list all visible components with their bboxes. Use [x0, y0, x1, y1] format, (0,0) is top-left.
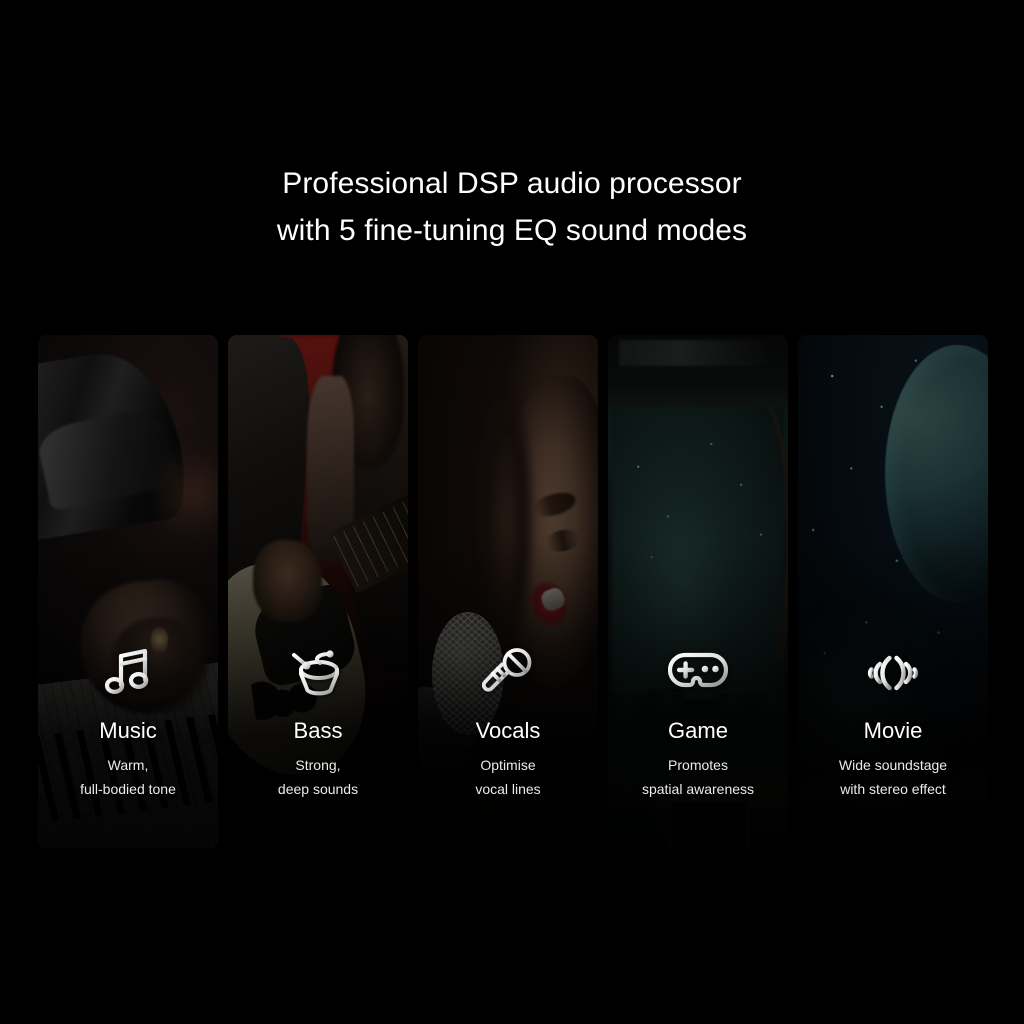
mode-description: Optimise vocal lines — [471, 753, 544, 801]
sound-mode-card-vocals[interactable]: Vocals Optimise vocal lines — [418, 335, 598, 848]
mode-title: Bass — [294, 718, 343, 744]
mode-description: Wide soundstage with stereo effect — [835, 753, 951, 801]
mode-title: Vocals — [476, 718, 541, 744]
card-content: Game Promotes spatial awareness — [608, 618, 788, 848]
mode-description: Strong, deep sounds — [274, 753, 362, 801]
card-content: Music Warm, full-bodied tone — [38, 618, 218, 848]
card-content: Vocals Optimise vocal lines — [418, 618, 598, 848]
mode-description: Warm, full-bodied tone — [76, 753, 180, 801]
gamepad-icon — [662, 640, 734, 706]
card-content: Movie Wide soundstage with stereo effect — [798, 618, 988, 848]
sound-mode-card-game[interactable]: Game Promotes spatial awareness — [608, 335, 788, 848]
music-note-icon — [92, 640, 164, 706]
drum-icon — [282, 640, 354, 706]
card-content: Bass Strong, deep sounds — [228, 618, 408, 848]
sound-modes-row: Music Warm, full-bodied tone — [38, 335, 988, 848]
sound-mode-card-bass[interactable]: Bass Strong, deep sounds — [228, 335, 408, 848]
mode-title: Movie — [864, 718, 923, 744]
page-title: Professional DSP audio processor with 5 … — [0, 160, 1024, 254]
mode-description: Promotes spatial awareness — [638, 753, 758, 801]
promo-page: Professional DSP audio processor with 5 … — [0, 0, 1024, 1024]
headline-line-2: with 5 fine-tuning EQ sound modes — [0, 207, 1024, 254]
headline-line-1: Professional DSP audio processor — [0, 160, 1024, 207]
sound-mode-card-music[interactable]: Music Warm, full-bodied tone — [38, 335, 218, 848]
sound-mode-card-movie[interactable]: Movie Wide soundstage with stereo effect — [798, 335, 988, 848]
mode-title: Music — [99, 718, 156, 744]
microphone-icon — [472, 640, 544, 706]
stereo-sound-waves-icon — [857, 640, 929, 706]
mode-title: Game — [668, 718, 728, 744]
